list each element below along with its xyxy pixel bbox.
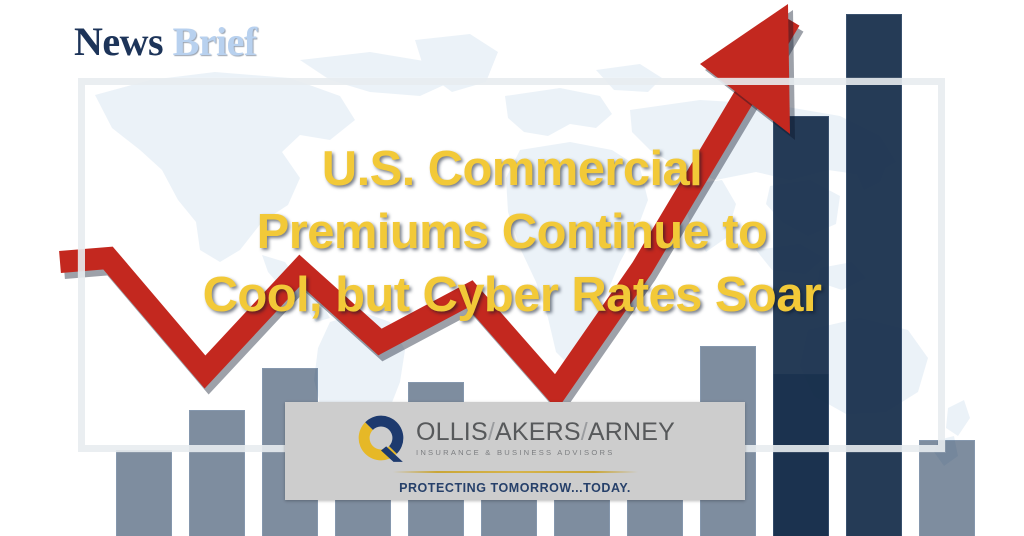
logo-lockup: OLLIS/AKERS/ARNEY INSURANCE & BUSINESS A… [355, 412, 675, 464]
logo-name-arney: ARNEY [588, 418, 675, 446]
logo-slash-1: / [488, 418, 495, 446]
logo-tagline: PROTECTING TOMORROW...TODAY. [399, 481, 631, 495]
page-title: U.S. Commercial Premiums Continue to Coo… [0, 138, 1024, 327]
logo-subtitle: INSURANCE & BUSINESS ADVISORS [416, 448, 675, 457]
logo-name-ollis: OLLIS [416, 418, 488, 446]
logo-divider [393, 471, 638, 473]
logo-plate: OLLIS/AKERS/ARNEY INSURANCE & BUSINESS A… [285, 402, 745, 500]
logo-slash-2: / [581, 418, 588, 446]
news-brief-kicker: News Brief [74, 18, 257, 65]
kicker-word-brief: Brief [173, 19, 257, 64]
headline-line-1: U.S. Commercial [95, 138, 929, 201]
logo-wordmark: OLLIS/AKERS/ARNEY [416, 419, 675, 445]
logo-name-akers: AKERS [495, 418, 581, 446]
ollis-akers-arney-logo-icon [355, 412, 407, 464]
logo-wordmark-group: OLLIS/AKERS/ARNEY INSURANCE & BUSINESS A… [416, 419, 675, 457]
kicker-word-news: News [74, 19, 163, 64]
headline-line-2: Premiums Continue to [95, 201, 929, 264]
news-brief-banner: News Brief U.S. Commercial Premiums Cont… [0, 0, 1024, 536]
headline-line-3: Cool, but Cyber Rates Soar [95, 264, 929, 327]
